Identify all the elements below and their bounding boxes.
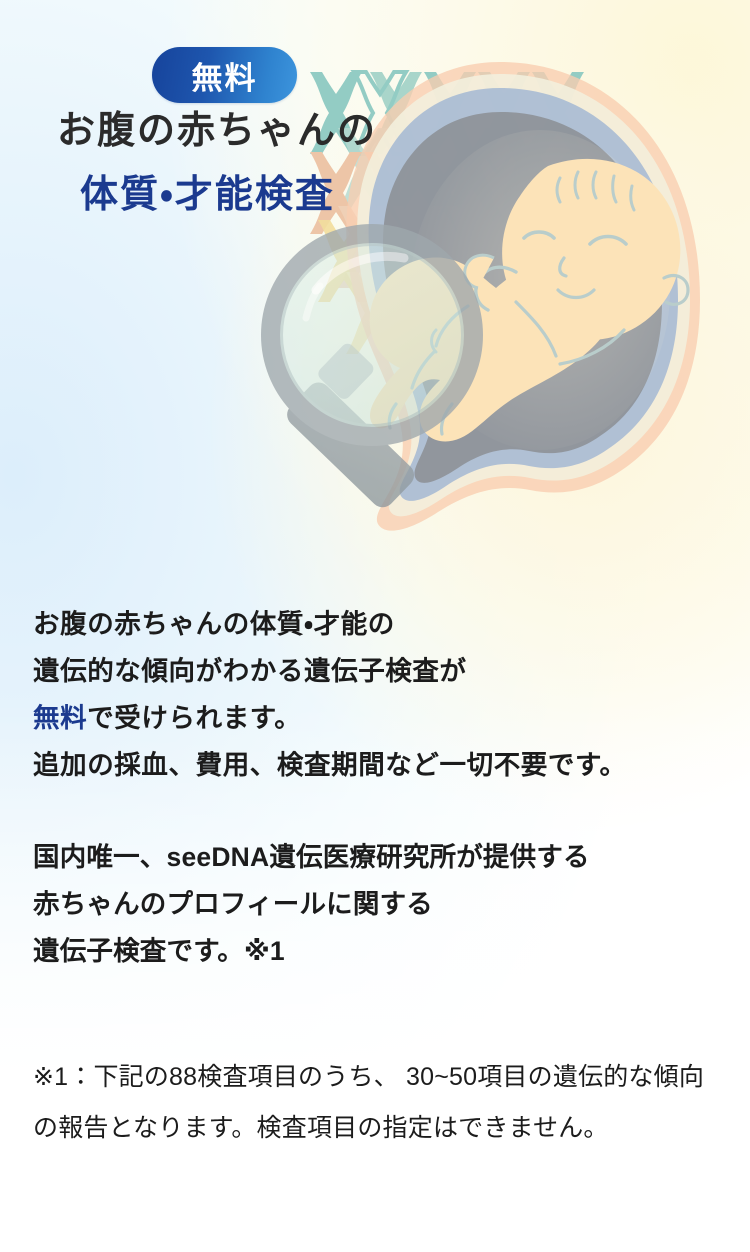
page-title-line-2: 体質・才能検査	[0, 176, 750, 214]
free-badge: 無料	[152, 47, 297, 103]
page-root: 無料 お腹の赤ちゃんの 体質・才能検査 お腹の赤ちゃんの体質・才能の 遺伝的な傾…	[0, 0, 750, 1252]
paragraph-1-line-2: 遺伝的な傾向がわかる遺伝子検査が	[33, 648, 723, 695]
hero-illustration	[0, 0, 750, 545]
paragraph-2: 国内唯一、seeDNA遺伝医療研究所が提供する 赤ちゃんのプロフィールに関する …	[33, 834, 723, 975]
page-title: お腹の赤ちゃんの 体質・才能検査	[0, 112, 750, 214]
paragraph-1-line-3-rest: で受けられます。	[87, 703, 301, 733]
paragraph-2-line-1: 国内唯一、seeDNA遺伝医療研究所が提供する	[33, 834, 723, 881]
body-copy: お腹の赤ちゃんの体質・才能の 遺伝的な傾向がわかる遺伝子検査が 無料で受けられま…	[33, 601, 723, 975]
paragraph-1-line-1: お腹の赤ちゃんの体質・才能の	[33, 601, 723, 648]
paragraph-1-line-4: 追加の採血、費用、検査期間など一切不要です。	[33, 742, 723, 789]
page-title-line-1: お腹の赤ちゃんの	[0, 112, 750, 150]
footnote-text: ※1：下記の88検査項目のうち、 30~50項目の遺伝的な傾向の報告となります。…	[33, 1052, 725, 1154]
paragraph-2-line-3: 遺伝子検査です。※1	[33, 928, 723, 975]
free-highlight: 無料	[33, 703, 87, 733]
paragraph-1: お腹の赤ちゃんの体質・才能の 遺伝的な傾向がわかる遺伝子検査が 無料で受けられま…	[33, 601, 723, 789]
paragraph-1-line-3: 無料で受けられます。	[33, 695, 723, 742]
paragraph-2-line-2: 赤ちゃんのプロフィールに関する	[33, 881, 723, 928]
free-badge-label: 無料	[192, 53, 258, 98]
